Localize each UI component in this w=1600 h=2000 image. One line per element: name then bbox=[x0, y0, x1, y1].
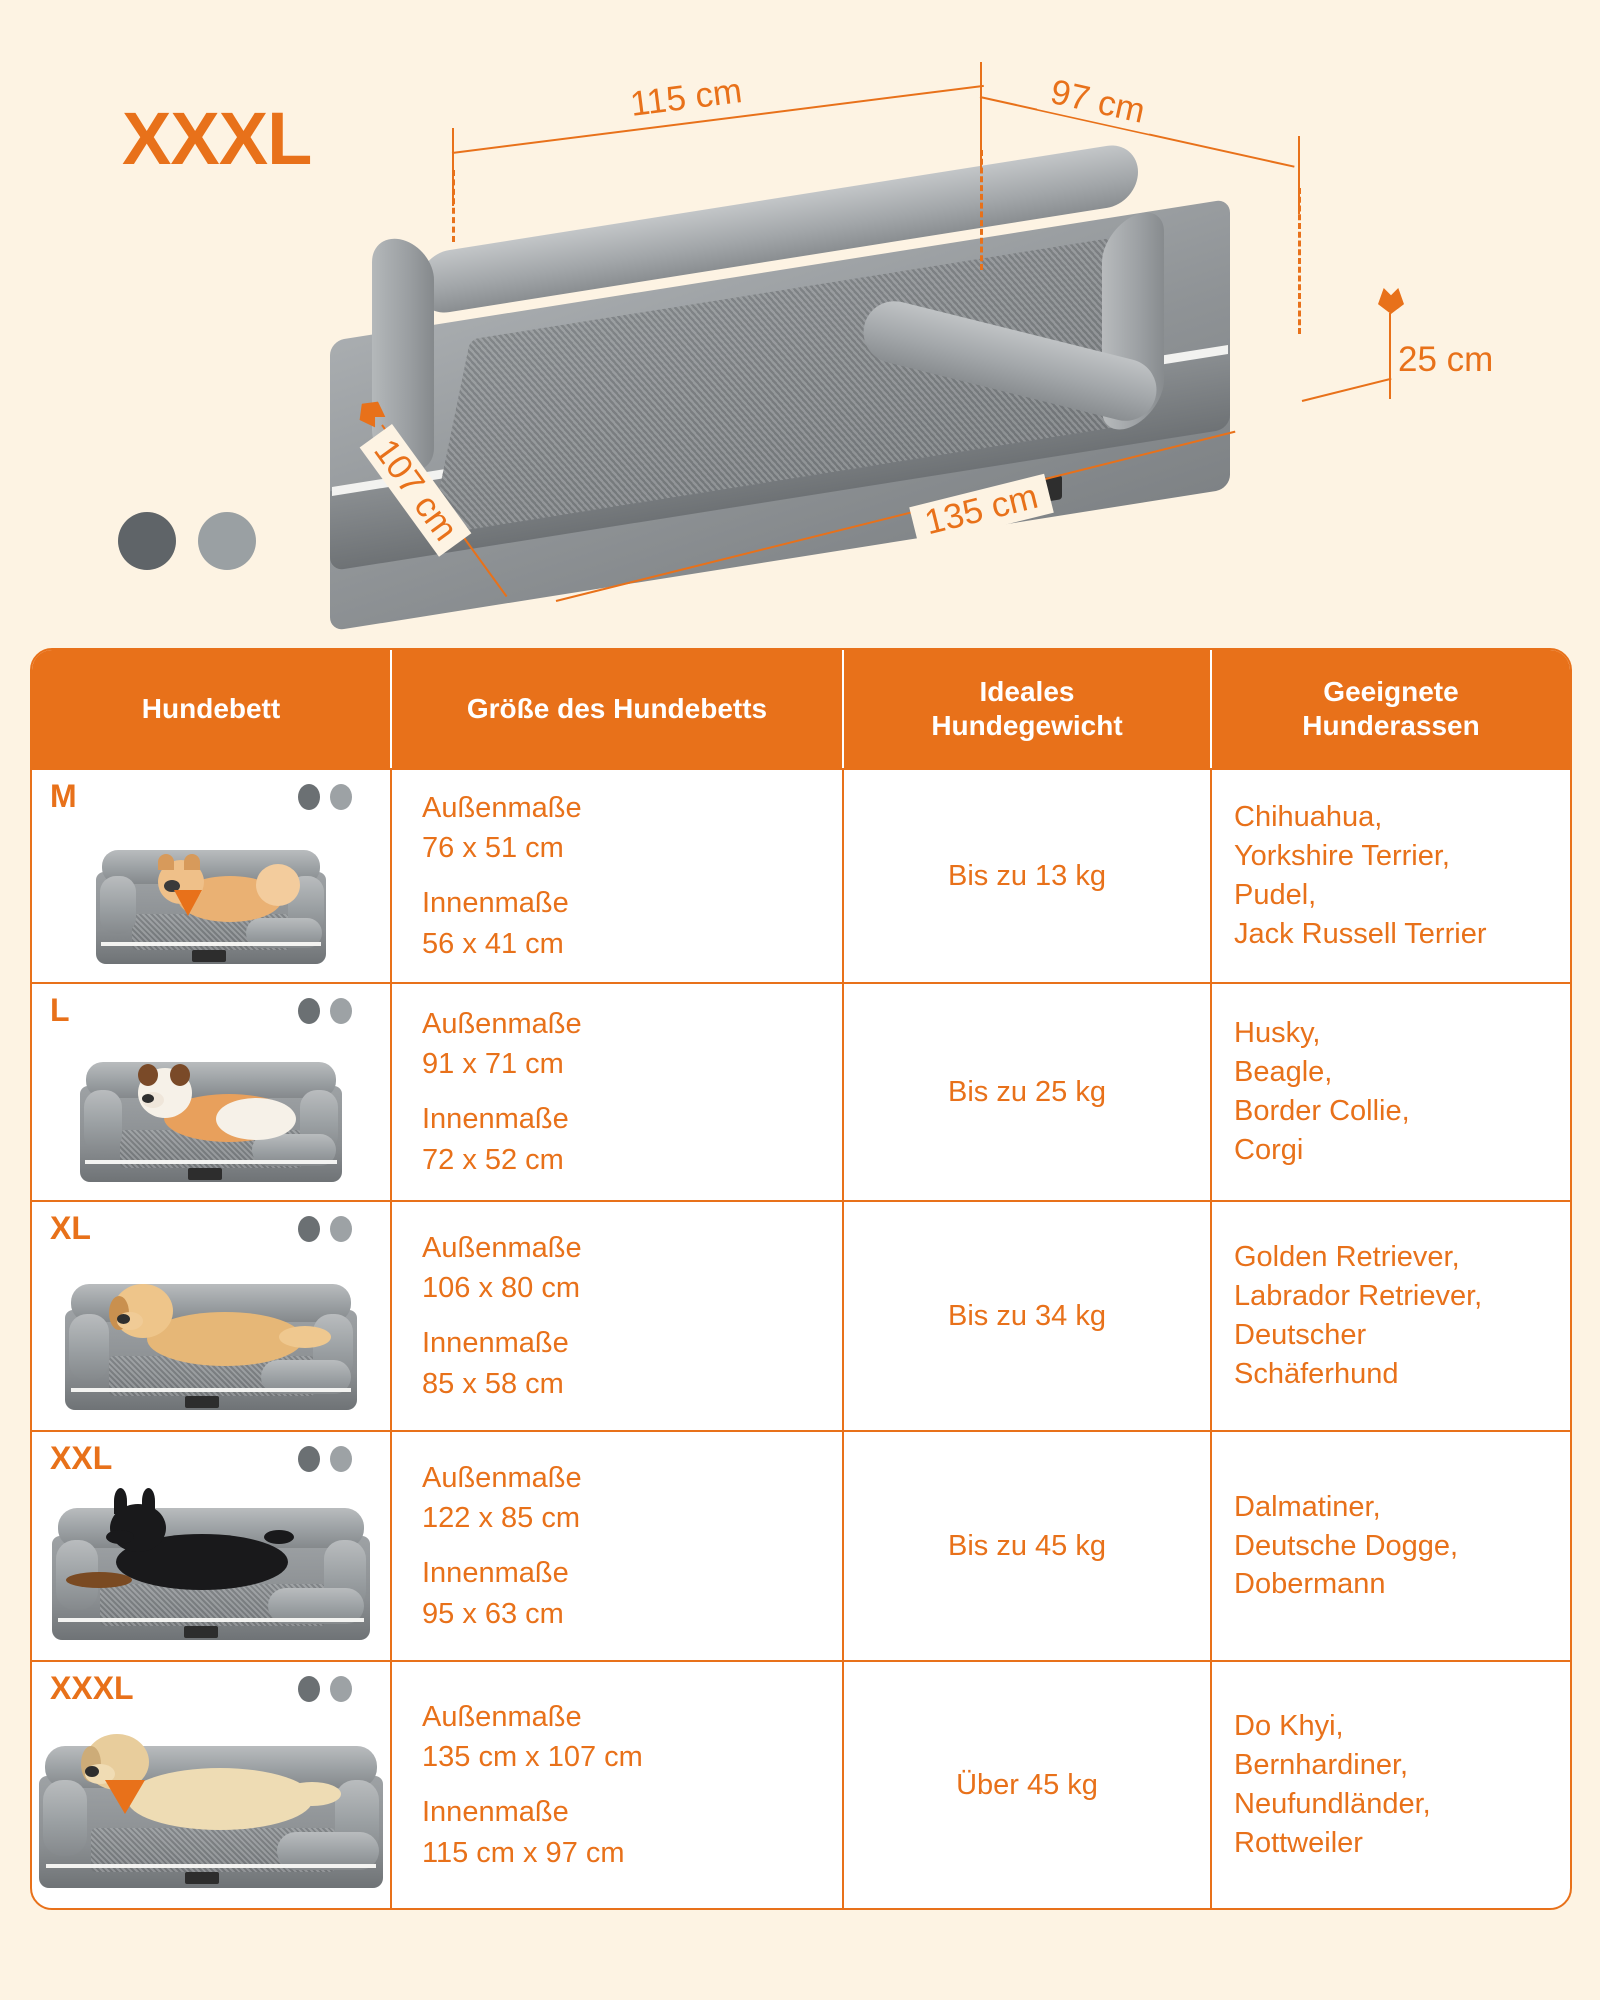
row-dot-light bbox=[330, 1446, 352, 1472]
size-label-xxxl: XXXL bbox=[50, 1670, 134, 1707]
row-weight-cell-xxxl: Über 45 kg bbox=[842, 1662, 1210, 1908]
column-header-weight-line2: Hundegewicht bbox=[931, 710, 1122, 741]
table-row: XXXL bbox=[32, 1660, 1570, 1908]
corner-dash-left bbox=[452, 170, 455, 242]
page-title: XXXL bbox=[122, 96, 311, 181]
bed-thumbnail-xl bbox=[46, 1212, 376, 1424]
inner-value-m: 56 x 41 cm bbox=[422, 924, 812, 965]
row-size-cell-m: Außenmaße 76 x 51 cm Innenmaße 56 x 41 c… bbox=[390, 770, 842, 982]
outer-label-l: Außenmaße bbox=[422, 1004, 812, 1045]
dog-pomeranian bbox=[152, 854, 292, 928]
bed-thumbnail-l bbox=[46, 994, 376, 1194]
breed-line: Do Khyi, bbox=[1234, 1707, 1548, 1746]
row-size-cell-xl: Außenmaße 106 x 80 cm Innenmaße 85 x 58 … bbox=[390, 1202, 842, 1430]
row-dot-light bbox=[330, 1676, 352, 1702]
row-breeds-cell-xxxl: Do Khyi, Bernhardiner, Neufundländer, Ro… bbox=[1210, 1662, 1570, 1908]
corner-dash-right bbox=[1298, 188, 1301, 334]
table-row: L bbox=[32, 982, 1570, 1200]
table-row: M bbox=[32, 768, 1570, 982]
breed-line: Dobermann bbox=[1234, 1565, 1548, 1604]
dim-line-25-curve bbox=[1302, 378, 1392, 402]
inner-label-xxxl: Innenmaße bbox=[422, 1792, 812, 1833]
row-bed-cell-m: M bbox=[32, 770, 390, 982]
breed-line: Jack Russell Terrier bbox=[1234, 915, 1548, 954]
column-header-weight-line1: Ideales bbox=[980, 676, 1075, 707]
outer-value-l: 91 x 71 cm bbox=[422, 1044, 812, 1085]
column-header-weight: Ideales Hundegewicht bbox=[842, 650, 1210, 768]
row-weight-cell-xxl: Bis zu 45 kg bbox=[842, 1432, 1210, 1660]
breed-line: Chihuahua, bbox=[1234, 798, 1548, 837]
outer-label-xxxl: Außenmaße bbox=[422, 1697, 812, 1738]
row-bed-cell-xxxl: XXXL bbox=[32, 1662, 390, 1908]
row-size-cell-xxl: Außenmaße 122 x 85 cm Innenmaße 95 x 63 … bbox=[390, 1432, 842, 1660]
breed-line: Schäferhund bbox=[1234, 1355, 1548, 1394]
row-breeds-cell-l: Husky, Beagle, Border Collie, Corgi bbox=[1210, 984, 1570, 1200]
row-color-dots-xxxl bbox=[298, 1676, 352, 1702]
color-swatch-dark-grey[interactable] bbox=[118, 512, 176, 570]
column-header-breeds: Geeignete Hunderassen bbox=[1210, 650, 1570, 768]
row-color-dots-m bbox=[298, 784, 352, 810]
column-header-breeds-line1: Geeignete bbox=[1323, 676, 1458, 707]
breed-line: Border Collie, bbox=[1234, 1092, 1548, 1131]
size-label-xxl: XXL bbox=[50, 1440, 112, 1477]
dog-labrador bbox=[69, 1732, 339, 1848]
row-dot-dark bbox=[298, 1676, 320, 1702]
row-color-dots-xl bbox=[298, 1216, 352, 1242]
breed-line: Labrador Retriever, bbox=[1234, 1277, 1548, 1316]
breed-line: Pudel, bbox=[1234, 876, 1548, 915]
inner-label-m: Innenmaße bbox=[422, 883, 812, 924]
dim-label-25: 25 cm bbox=[1398, 340, 1493, 380]
row-bed-cell-l: L bbox=[32, 984, 390, 1200]
inner-label-l: Innenmaße bbox=[422, 1099, 812, 1140]
size-comparison-table: Hundebett Größe des Hundebetts Ideales H… bbox=[30, 648, 1572, 1910]
row-color-dots-l bbox=[298, 998, 352, 1024]
breed-line: Dalmatiner, bbox=[1234, 1488, 1548, 1527]
row-size-cell-l: Außenmaße 91 x 71 cm Innenmaße 72 x 52 c… bbox=[390, 984, 842, 1200]
table-header-row: Hundebett Größe des Hundebetts Ideales H… bbox=[32, 650, 1570, 768]
row-breeds-cell-xl: Golden Retriever, Labrador Retriever, De… bbox=[1210, 1202, 1570, 1430]
column-header-breeds-line2: Hunderassen bbox=[1302, 710, 1479, 741]
breed-line: Corgi bbox=[1234, 1131, 1548, 1170]
row-weight-cell-xl: Bis zu 34 kg bbox=[842, 1202, 1210, 1430]
row-weight-cell-l: Bis zu 25 kg bbox=[842, 984, 1210, 1200]
row-bed-cell-xxl: XXL bbox=[32, 1432, 390, 1660]
inner-label-xxl: Innenmaße bbox=[422, 1553, 812, 1594]
row-weight-cell-m: Bis zu 13 kg bbox=[842, 770, 1210, 982]
row-breeds-cell-xxl: Dalmatiner, Deutsche Dogge, Dobermann bbox=[1210, 1432, 1570, 1660]
dog-golden-retriever bbox=[103, 1282, 319, 1374]
breed-line: Neufundländer, bbox=[1234, 1785, 1548, 1824]
color-swatches bbox=[118, 512, 256, 570]
size-label-m: M bbox=[50, 778, 77, 815]
outer-value-xxl: 122 x 85 cm bbox=[422, 1498, 812, 1539]
hero-section: XXXL feandrea 115 cm 97 cm 25 cm 107 cm … bbox=[0, 0, 1600, 640]
outer-label-m: Außenmaße bbox=[422, 788, 812, 829]
row-dot-dark bbox=[298, 1446, 320, 1472]
dog-border-collie bbox=[124, 1064, 314, 1148]
outer-label-xxl: Außenmaße bbox=[422, 1458, 812, 1499]
column-header-size: Größe des Hundebetts bbox=[390, 650, 842, 768]
outer-value-m: 76 x 51 cm bbox=[422, 828, 812, 869]
size-label-l: L bbox=[50, 992, 70, 1029]
row-bed-cell-xl: XL bbox=[32, 1202, 390, 1430]
dog-doberman bbox=[66, 1500, 316, 1604]
outer-label-xl: Außenmaße bbox=[422, 1228, 812, 1269]
inner-label-xl: Innenmaße bbox=[422, 1323, 812, 1364]
breed-line: Beagle, bbox=[1234, 1053, 1548, 1092]
table-row: XXL bbox=[32, 1430, 1570, 1660]
breed-line: Rottweiler bbox=[1234, 1824, 1548, 1863]
table-row: XL bbox=[32, 1200, 1570, 1430]
pin-marker-25 bbox=[1378, 288, 1404, 314]
breed-line: Yorkshire Terrier, bbox=[1234, 837, 1548, 876]
row-breeds-cell-m: Chihuahua, Yorkshire Terrier, Pudel, Jac… bbox=[1210, 770, 1570, 982]
breed-line: Bernhardiner, bbox=[1234, 1746, 1548, 1785]
row-dot-light bbox=[330, 784, 352, 810]
dim-line-25-vert bbox=[1389, 313, 1391, 399]
size-label-xl: XL bbox=[50, 1210, 91, 1247]
column-header-bed: Hundebett bbox=[32, 650, 390, 768]
breed-line: Golden Retriever, bbox=[1234, 1238, 1548, 1277]
color-swatch-light-grey[interactable] bbox=[198, 512, 256, 570]
breed-line: Deutscher bbox=[1234, 1316, 1548, 1355]
row-dot-dark bbox=[298, 1216, 320, 1242]
breed-line: Deutsche Dogge, bbox=[1234, 1527, 1548, 1566]
row-dot-dark bbox=[298, 998, 320, 1024]
outer-value-xl: 106 x 80 cm bbox=[422, 1268, 812, 1309]
row-dot-light bbox=[330, 998, 352, 1024]
breed-line: Husky, bbox=[1234, 1014, 1548, 1053]
inner-value-xl: 85 x 58 cm bbox=[422, 1364, 812, 1405]
outer-value-xxxl: 135 cm x 107 cm bbox=[422, 1737, 812, 1778]
inner-value-xxl: 95 x 63 cm bbox=[422, 1594, 812, 1635]
row-color-dots-xxl bbox=[298, 1446, 352, 1472]
row-dot-light bbox=[330, 1216, 352, 1242]
corner-dash-center bbox=[980, 150, 983, 270]
row-size-cell-xxxl: Außenmaße 135 cm x 107 cm Innenmaße 115 … bbox=[390, 1662, 842, 1908]
inner-value-xxxl: 115 cm x 97 cm bbox=[422, 1833, 812, 1874]
row-dot-dark bbox=[298, 784, 320, 810]
inner-value-l: 72 x 52 cm bbox=[422, 1140, 812, 1181]
